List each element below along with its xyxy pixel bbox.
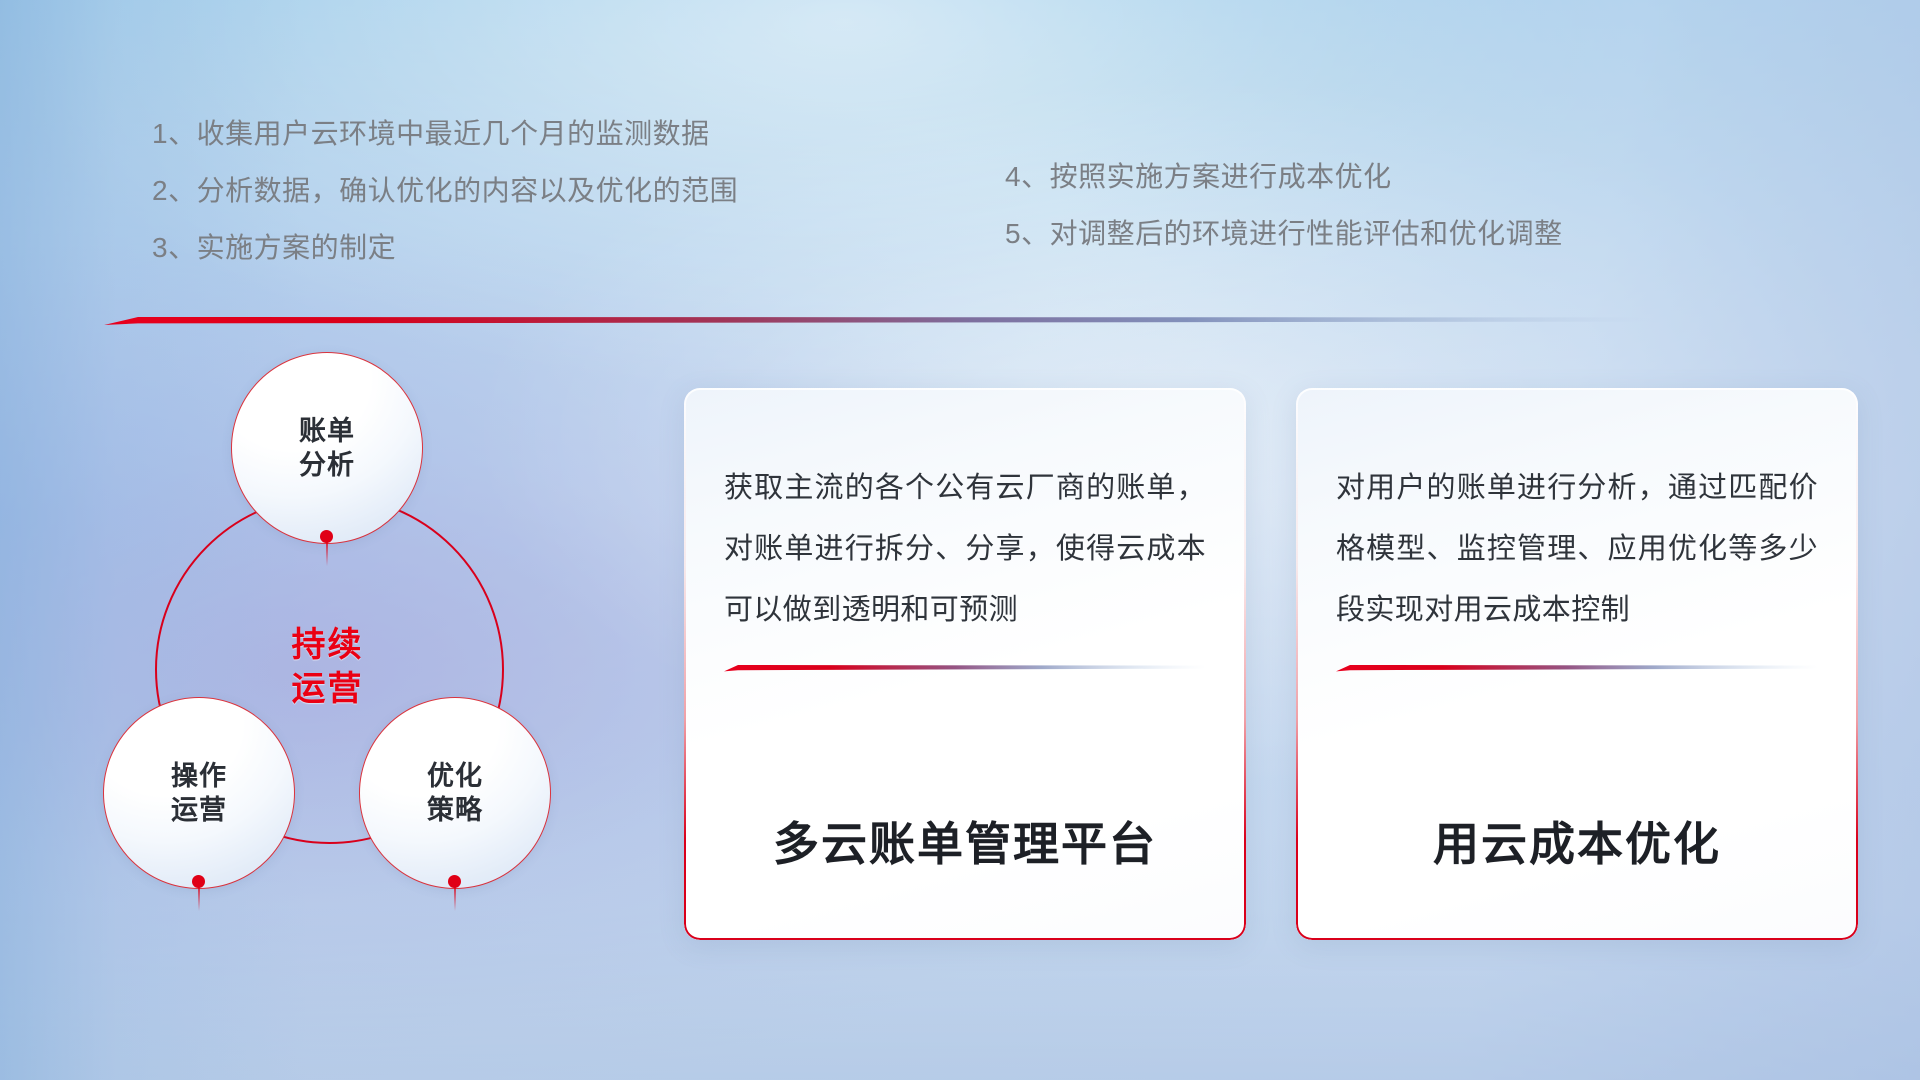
step-number: 3、 — [152, 232, 197, 263]
step-item: 2、分析数据，确认优化的内容以及优化的范围 — [152, 177, 738, 205]
card-accent-rule — [1336, 663, 1818, 672]
step-item: 3、实施方案的制定 — [152, 234, 738, 262]
connector-tail-top — [326, 540, 328, 566]
connector-dot-bottom-left — [192, 875, 205, 888]
step-text: 分析数据，确认优化的内容以及优化的范围 — [197, 175, 739, 206]
card-content: 获取主流的各个公有云厂商的账单，对账单进行拆分、分享，使得云成本可以做到透明和可… — [684, 388, 1246, 940]
connector-dot-bottom-right — [448, 875, 461, 888]
venn-diagram: 账单 分析 操作 运营 优化 策略 持续 运营 — [95, 350, 655, 950]
steps-list-right: 4、按照实施方案进行成本优化 5、对调整后的环境进行性能评估和优化调整 — [1005, 163, 1563, 248]
connector-tail-bottom-right — [454, 885, 456, 911]
card-accent-rule — [724, 663, 1206, 672]
card-description: 对用户的账单进行分析，通过匹配价格模型、监控管理、应用优化等多少段实现对用云成本… — [1336, 458, 1818, 641]
step-item: 1、收集用户云环境中最近几个月的监测数据 — [152, 120, 738, 148]
feature-card-cloud-cost-optimization[interactable]: 对用户的账单进行分析，通过匹配价格模型、监控管理、应用优化等多少段实现对用云成本… — [1296, 388, 1858, 940]
section-divider — [104, 314, 1652, 326]
step-number: 2、 — [152, 175, 197, 206]
card-description: 获取主流的各个公有云厂商的账单，对账单进行拆分、分享，使得云成本可以做到透明和可… — [724, 458, 1206, 641]
steps-list-left: 1、收集用户云环境中最近几个月的监测数据 2、分析数据，确认优化的内容以及优化的… — [152, 120, 738, 262]
step-text: 实施方案的制定 — [197, 232, 397, 263]
step-text: 按照实施方案进行成本优化 — [1050, 161, 1392, 192]
cycle-center-label: 持续 运营 — [155, 495, 500, 840]
step-text: 收集用户云环境中最近几个月的监测数据 — [197, 118, 710, 149]
venn-circle-label: 账单 分析 — [299, 414, 355, 482]
connector-tail-bottom-left — [198, 885, 200, 911]
card-content: 对用户的账单进行分析，通过匹配价格模型、监控管理、应用优化等多少段实现对用云成本… — [1296, 388, 1858, 940]
step-item: 5、对调整后的环境进行性能评估和优化调整 — [1005, 220, 1563, 248]
step-number: 5、 — [1005, 218, 1050, 249]
step-text: 对调整后的环境进行性能评估和优化调整 — [1050, 218, 1563, 249]
step-number: 4、 — [1005, 161, 1050, 192]
step-number: 1、 — [152, 118, 197, 149]
card-title: 用云成本优化 — [1336, 808, 1818, 874]
step-item: 4、按照实施方案进行成本优化 — [1005, 163, 1563, 191]
connector-dot-top — [320, 530, 333, 543]
card-title: 多云账单管理平台 — [724, 808, 1206, 874]
slide-canvas: 1、收集用户云环境中最近几个月的监测数据 2、分析数据，确认优化的内容以及优化的… — [0, 0, 1920, 1080]
feature-card-multicloud-billing[interactable]: 获取主流的各个公有云厂商的账单，对账单进行拆分、分享，使得云成本可以做到透明和可… — [684, 388, 1246, 940]
